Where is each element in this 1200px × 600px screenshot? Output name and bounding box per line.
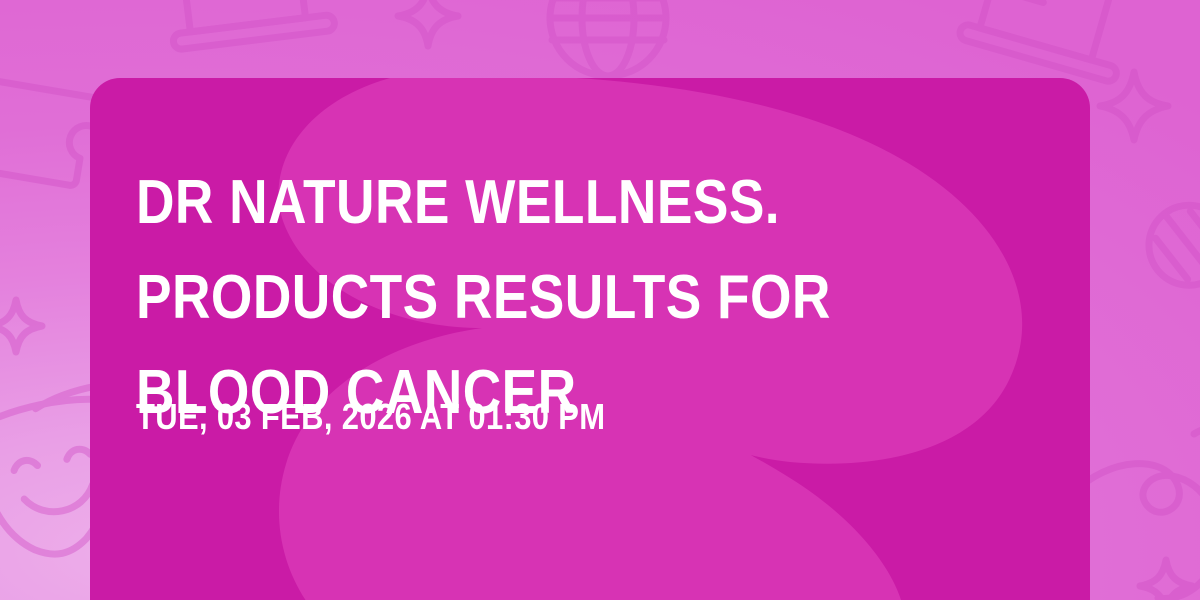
event-datetime: Tue, 03 Feb, 2026 at 01:30 PM	[136, 395, 922, 439]
laptop-icon	[164, 0, 336, 50]
globe-icon	[550, 0, 666, 76]
ribbon-swirl-icon	[1072, 427, 1200, 598]
event-banner: Dr Nature Wellness. Products Results for…	[0, 0, 1200, 600]
sparkle-icon	[0, 300, 42, 352]
laptop-icon	[958, 0, 1138, 83]
sparkle-icon	[398, 0, 458, 46]
event-card: Dr Nature Wellness. Products Results for…	[90, 78, 1090, 600]
microphone-icon	[1133, 189, 1200, 328]
